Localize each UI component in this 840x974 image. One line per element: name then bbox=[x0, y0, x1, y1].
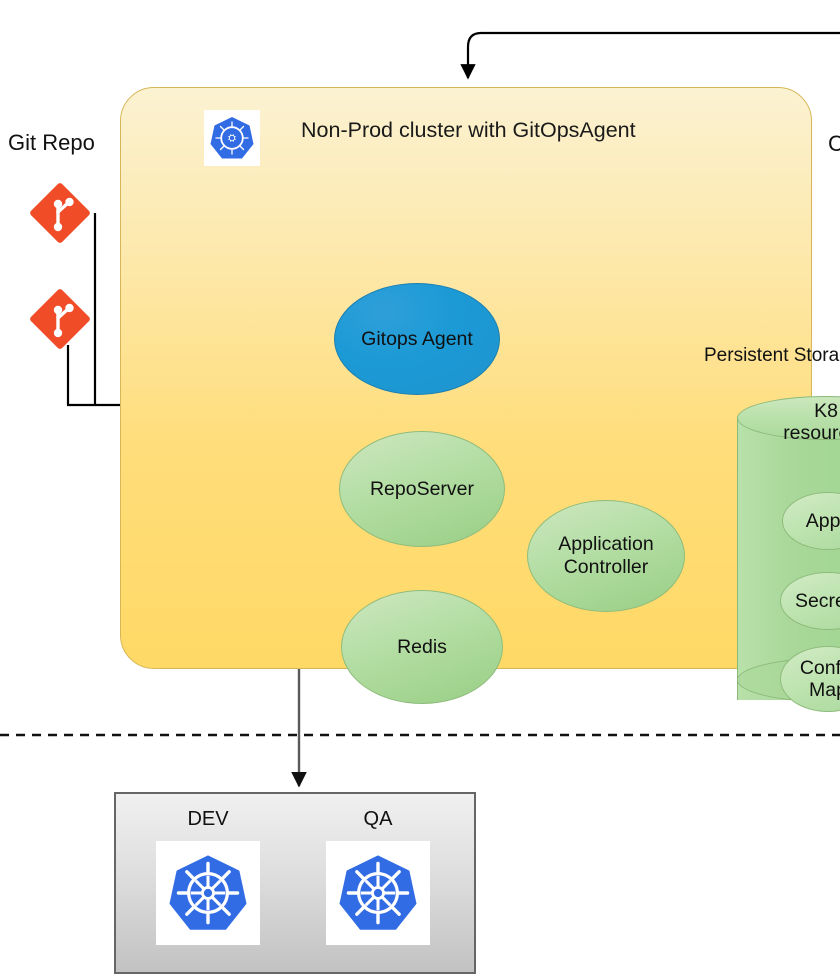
persistent-storage-label: Persistent Storage bbox=[704, 345, 840, 367]
git-logo-icon bbox=[28, 287, 92, 351]
node-application-controller[interactable]: Application Controller bbox=[527, 500, 685, 612]
node-application-controller-line2: Controller bbox=[564, 556, 649, 578]
git-logo-icon bbox=[28, 181, 92, 245]
kubernetes-icon bbox=[156, 841, 260, 945]
inbound-top-arrow bbox=[468, 33, 840, 78]
git-repo-label: Git Repo bbox=[8, 130, 95, 156]
non-prod-cluster-container: Non-Prod cluster with GitOpsAgent Gitops… bbox=[120, 87, 812, 669]
environment-label-dev: DEV bbox=[128, 808, 288, 831]
environment-cell-dev[interactable]: DEV bbox=[128, 808, 288, 945]
node-application-controller-line1: Application bbox=[558, 533, 653, 555]
kubernetes-icon bbox=[326, 841, 430, 945]
kubernetes-icon bbox=[204, 110, 260, 166]
node-repo-server-label: RepoServer bbox=[370, 478, 474, 501]
environment-cell-qa[interactable]: QA bbox=[298, 808, 458, 945]
storage-item-secrets-label: Secrets bbox=[795, 590, 840, 612]
environments-box: DEV bbox=[114, 792, 476, 974]
node-repo-server[interactable]: RepoServer bbox=[339, 431, 505, 547]
environment-label-qa: QA bbox=[298, 808, 458, 831]
partial-right-label: C bbox=[828, 131, 840, 157]
node-application-controller-label: Application Controller bbox=[558, 533, 653, 579]
cylinder-title-line2: resources bbox=[783, 422, 840, 444]
persistent-storage-cylinder: K8 resources Apps Secrets Config Map bbox=[737, 396, 840, 721]
node-gitops-agent[interactable]: Gitops Agent bbox=[334, 283, 500, 395]
node-gitops-agent-label: Gitops Agent bbox=[361, 328, 473, 351]
storage-item-config-map-label: Config Map bbox=[800, 657, 840, 702]
cylinder-title-line1: K8 bbox=[814, 400, 838, 422]
storage-item-config-map-line1: Config bbox=[800, 657, 840, 679]
node-redis[interactable]: Redis bbox=[341, 590, 503, 704]
storage-item-apps-label: Apps bbox=[806, 510, 840, 532]
storage-item-config-map-line2: Map bbox=[809, 679, 840, 701]
cylinder-title: K8 resources bbox=[737, 400, 840, 445]
node-redis-label: Redis bbox=[397, 636, 447, 659]
cluster-title: Non-Prod cluster with GitOpsAgent bbox=[301, 118, 636, 143]
